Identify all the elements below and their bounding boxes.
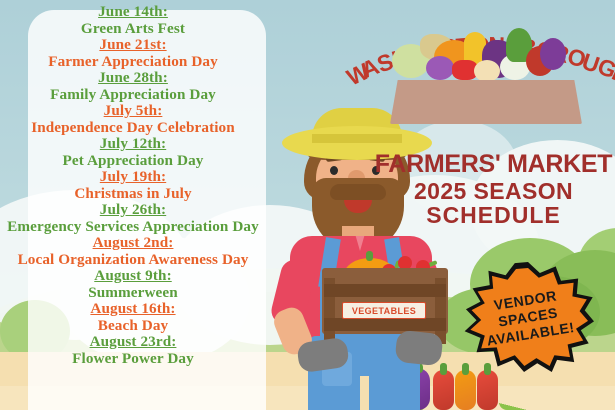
logo-crate-body: 44 E. WASHINGTON AVE WASHINGTON, NJ xyxy=(390,80,582,124)
schedule-list: June 14th:Green Arts FestJune 21st:Farme… xyxy=(0,0,266,410)
schedule-event: Local Organization Awareness Day xyxy=(0,252,266,268)
crate-body xyxy=(322,268,448,334)
schedule-event: Green Arts Fest xyxy=(0,21,266,37)
schedule-date: July 26th: xyxy=(0,202,266,218)
vendor-spaces-badge[interactable]: VENDOR SPACES AVAILABLE! xyxy=(462,262,594,372)
schedule-event: Independence Day Celebration xyxy=(0,120,266,136)
schedule-date: August 9th: xyxy=(0,268,266,284)
schedule-date: July 12th: xyxy=(0,136,266,152)
eye xyxy=(330,166,338,175)
title-season: 2025 SEASON xyxy=(372,179,615,203)
plum-icon xyxy=(540,38,566,70)
schedule-event: Christmas in July xyxy=(0,186,266,202)
schedule-event: Pet Appreciation Day xyxy=(0,153,266,169)
poster-title-block: FARMERS' MARKET 2025 SEASON SCHEDULE xyxy=(372,152,615,227)
vegetable-crate: VEGETABLES xyxy=(322,258,448,338)
schedule-event: Beach Day xyxy=(0,318,266,334)
crate-label: VEGETABLES xyxy=(342,302,426,319)
market-logo: 44 E. WASHINGTON AVE WASHINGTON, NJ xyxy=(390,30,582,116)
schedule-event: Farmer Appreciation Day xyxy=(0,54,266,70)
title-schedule: SCHEDULE xyxy=(372,203,615,227)
schedule-date: June 28th: xyxy=(0,70,266,86)
onion-icon xyxy=(474,60,500,82)
schedule-event: Summerween xyxy=(0,285,266,301)
schedule-date: August 23rd: xyxy=(0,334,266,350)
crate-slat xyxy=(324,318,446,331)
schedule-event: Flower Power Day xyxy=(0,351,266,367)
schedule-date: August 16th: xyxy=(0,301,266,317)
straw-hat-band xyxy=(312,134,402,143)
schedule-date: August 2nd: xyxy=(0,235,266,251)
crate-slat xyxy=(324,284,446,297)
badge-text: VENDOR SPACES AVAILABLE! xyxy=(454,252,602,381)
schedule-date: June 21st: xyxy=(0,37,266,53)
schedule-date: July 19th: xyxy=(0,169,266,185)
farmers-market-poster: VEGETABLES WASHINGTON BOROUGH 44 E. WASH… xyxy=(0,0,615,410)
schedule-date: July 5th: xyxy=(0,103,266,119)
pant-leg-gap xyxy=(360,376,369,410)
logo-vegetable-pile xyxy=(390,30,566,80)
title-farmers-market: FARMERS' MARKET xyxy=(372,152,615,178)
glove-right xyxy=(394,330,443,367)
schedule-event: Family Appreciation Day xyxy=(0,87,266,103)
schedule-event: Emergency Services Appreciation Day xyxy=(0,219,266,235)
schedule-date: June 14th: xyxy=(0,4,266,20)
grapes-icon xyxy=(426,56,454,80)
